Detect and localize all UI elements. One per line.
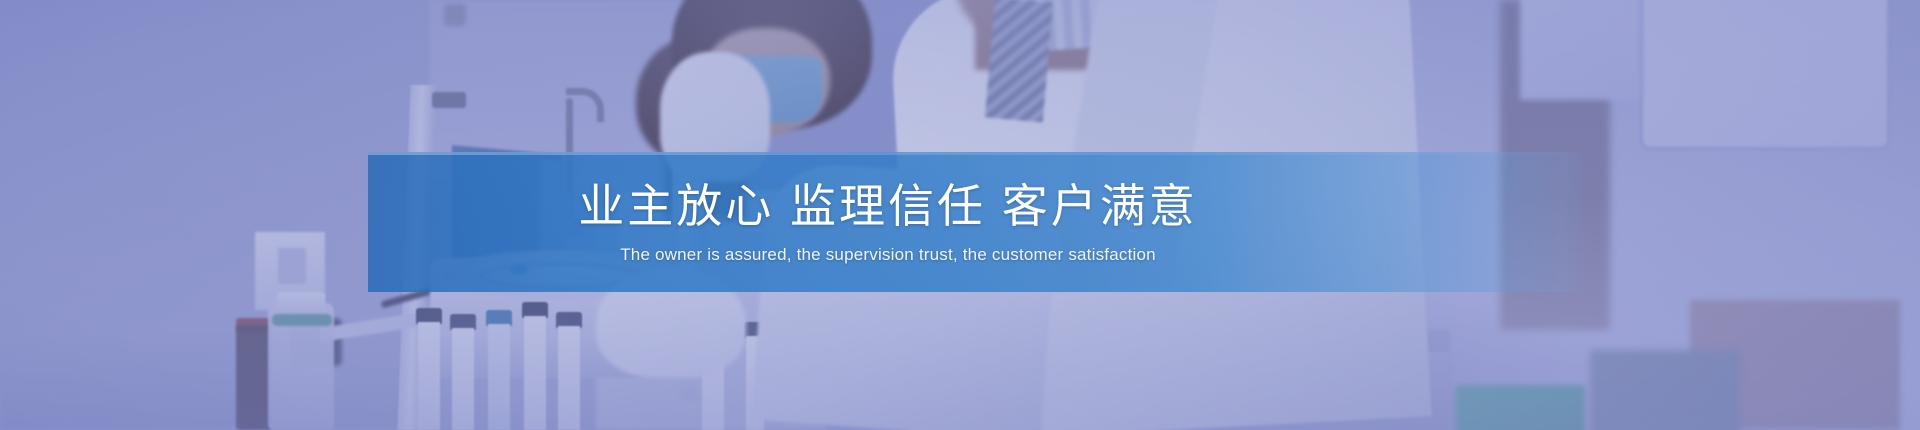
lab-hero-banner: 业主放心 监理信任 客户满意 The owner is assured, the… (0, 0, 1920, 430)
wall-fixture (444, 4, 466, 26)
window-panel-2 (1520, 0, 1640, 100)
sample-vial (522, 302, 548, 430)
caption-band: 业主放心 监理信任 客户满意 The owner is assured, the… (368, 152, 1588, 292)
door-handle (432, 92, 466, 108)
reagent-bottle (236, 325, 272, 430)
caption-text-group: 业主放心 监理信任 客户满意 The owner is assured, the… (368, 152, 1588, 292)
sample-vial (416, 308, 442, 430)
sample-vial (486, 310, 512, 430)
green-tray (1455, 385, 1585, 430)
shelf-box-2 (1590, 350, 1740, 430)
water-bottle-cap (277, 292, 325, 316)
sample-vial (450, 314, 476, 430)
sample-vial (556, 312, 582, 430)
doctor-tie (985, 0, 1053, 122)
window-panel (1640, 0, 1890, 150)
wall-outlet-hole (278, 248, 306, 284)
banner-headline: 业主放心 监理信任 客户满意 (578, 179, 1198, 233)
water-bottle-ring (272, 314, 332, 326)
banner-subheadline: The owner is assured, the supervision tr… (620, 245, 1156, 265)
